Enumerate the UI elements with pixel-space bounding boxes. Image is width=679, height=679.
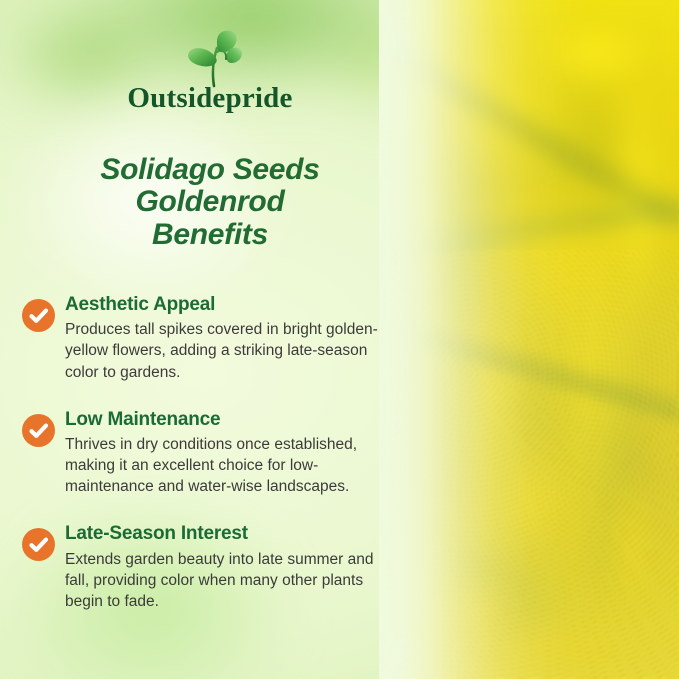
benefit-item: Late-Season Interest Extends garden beau… [22,521,422,612]
page-title-line-3: Benefits [0,219,420,251]
check-circle-icon [22,299,55,332]
leaf-sprout-icon [165,28,255,90]
goldenrod-flowers-photo [379,0,679,679]
benefit-heading: Low Maintenance [65,409,422,431]
benefit-body: Thrives in dry conditions once establish… [65,434,395,497]
benefit-item: Low Maintenance Thrives in dry condition… [22,407,422,498]
page-title-line-2: Goldenrod [0,186,420,218]
benefit-heading: Late-Season Interest [65,523,422,545]
benefits-list: Aesthetic Appeal Produces tall spikes co… [22,292,422,612]
brand-logo: Outsidepride [0,28,420,115]
benefit-heading: Aesthetic Appeal [65,294,422,316]
benefit-text: Late-Season Interest Extends garden beau… [65,521,422,612]
page-title: Solidago Seeds Goldenrod Benefits [0,154,420,251]
benefit-item: Aesthetic Appeal Produces tall spikes co… [22,292,422,383]
benefit-text: Aesthetic Appeal Produces tall spikes co… [65,292,422,383]
page-title-line-1: Solidago Seeds [0,154,420,186]
benefit-body: Extends garden beauty into late summer a… [65,549,395,612]
benefit-body: Produces tall spikes covered in bright g… [65,319,395,382]
check-circle-icon [22,414,55,447]
brand-name: Outsidepride [127,82,292,115]
infographic-card: Outsidepride Solidago Seeds Goldenrod Be… [0,0,679,679]
benefit-text: Low Maintenance Thrives in dry condition… [65,407,422,498]
check-circle-icon [22,528,55,561]
photo-corner-vignette [379,0,679,679]
